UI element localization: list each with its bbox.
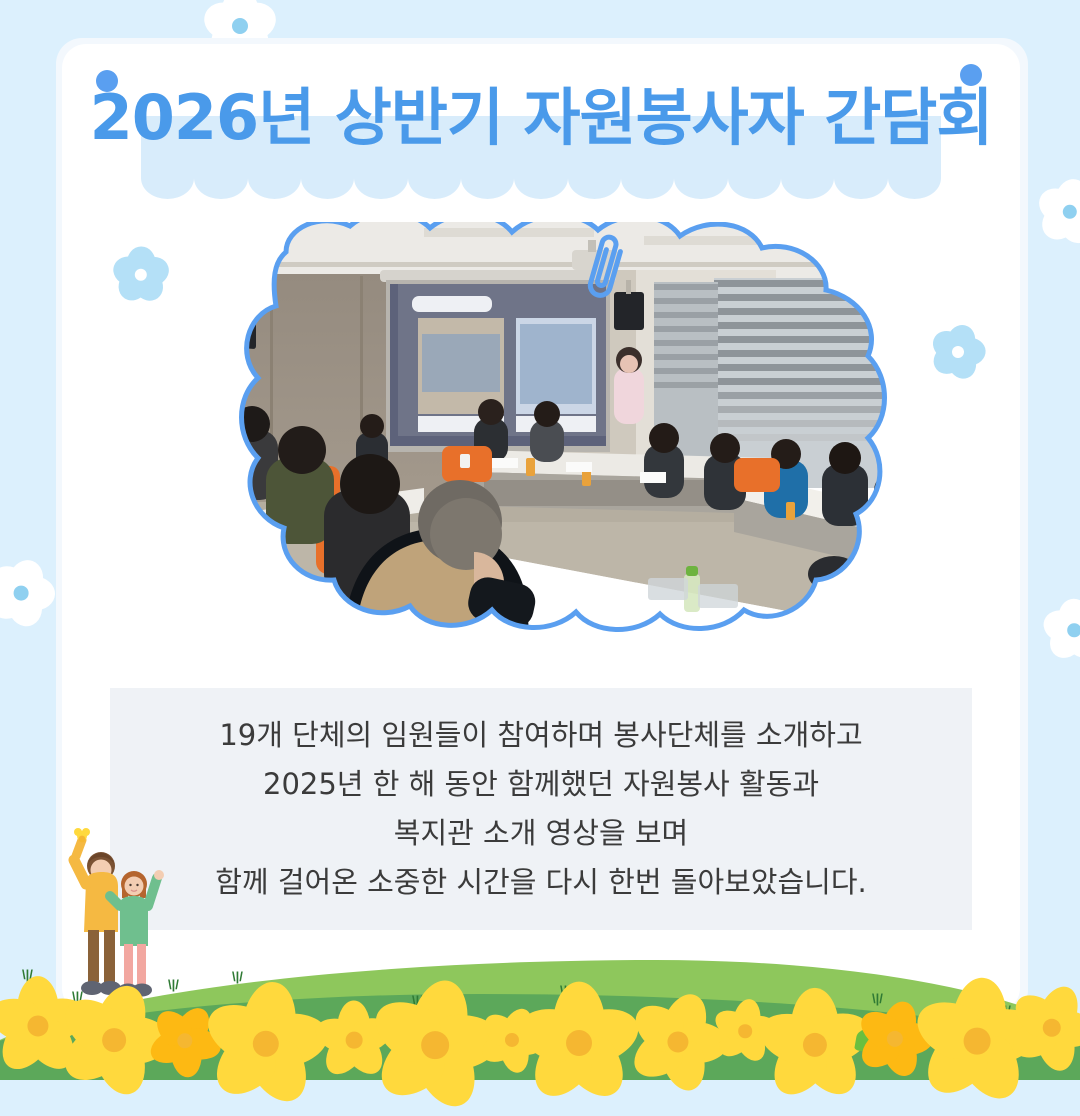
description-line-1: 19개 단체의 임원들이 참여하며 봉사단체를 소개하고 bbox=[219, 718, 862, 753]
page-title: 2026년 상반기 자원봉사자 간담회 bbox=[62, 70, 1020, 166]
couple-illustration bbox=[52, 822, 182, 1002]
spring-flower bbox=[760, 990, 870, 1100]
decorative-dot-left bbox=[96, 70, 118, 92]
decorative-dot-right bbox=[960, 64, 982, 86]
grass-tuft: \|/ bbox=[168, 977, 179, 992]
description-panel: 19개 단체의 임원들이 참여하며 봉사단체를 소개하고 2025년 한 해 동… bbox=[110, 688, 972, 930]
flower-right-white-icon bbox=[1034, 176, 1080, 248]
flower-left-blue-icon bbox=[110, 244, 172, 306]
event-photo bbox=[174, 222, 914, 642]
description-line-4: 함께 걸어온 소중한 시간을 다시 한번 돌아보았습니다. bbox=[215, 865, 867, 900]
flower-left-lower-white-icon bbox=[0, 556, 58, 630]
spring-flower bbox=[630, 994, 726, 1090]
spring-flower bbox=[520, 984, 638, 1102]
spring-flower bbox=[1010, 986, 1080, 1070]
flower-right-lower-white-icon bbox=[1040, 596, 1080, 664]
poster-card: 2026년 상반기 자원봉사자 간담회 bbox=[62, 44, 1020, 1012]
grass-tuft: \|/ bbox=[232, 969, 243, 984]
poster-canvas: 2026년 상반기 자원봉사자 간담회 bbox=[0, 0, 1080, 1080]
spring-flower bbox=[206, 984, 326, 1104]
description-line-2: 2025년 한 해 동안 함께했던 자원봉사 활동과 bbox=[263, 767, 819, 802]
description-line-3: 복지관 소개 영상을 보며 bbox=[394, 816, 688, 851]
flower-right-blue-icon bbox=[928, 322, 988, 382]
title-block: 2026년 상반기 자원봉사자 간담회 bbox=[62, 70, 1020, 200]
